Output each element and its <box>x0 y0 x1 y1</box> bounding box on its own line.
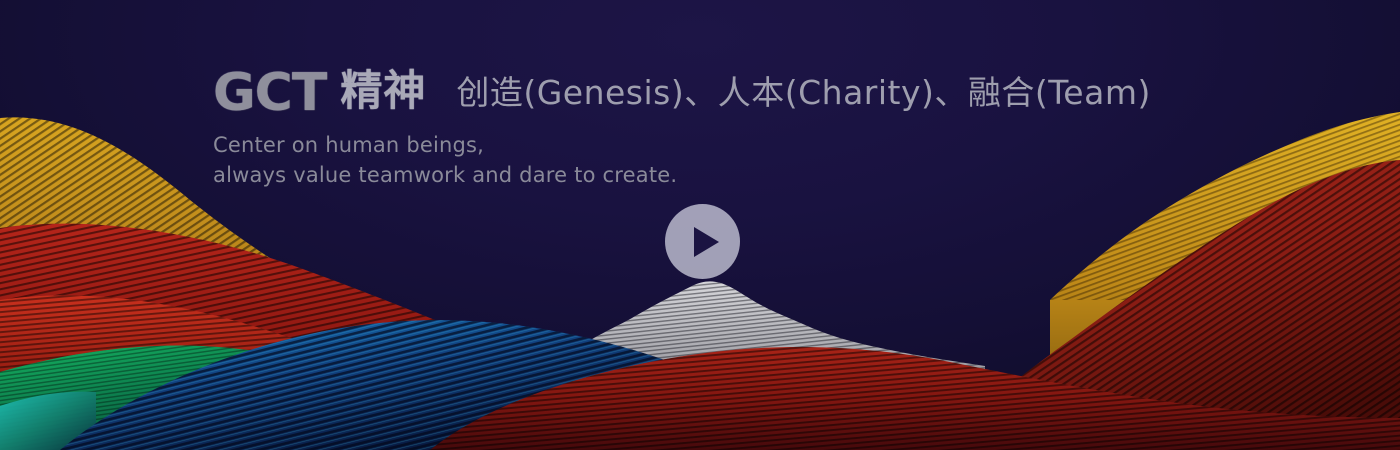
hero-banner: GCT 精神 创造(Genesis)、人本(Charity)、融合(Team) … <box>0 0 1400 450</box>
play-video-button[interactable] <box>665 204 740 279</box>
play-triangle-icon <box>694 227 719 257</box>
